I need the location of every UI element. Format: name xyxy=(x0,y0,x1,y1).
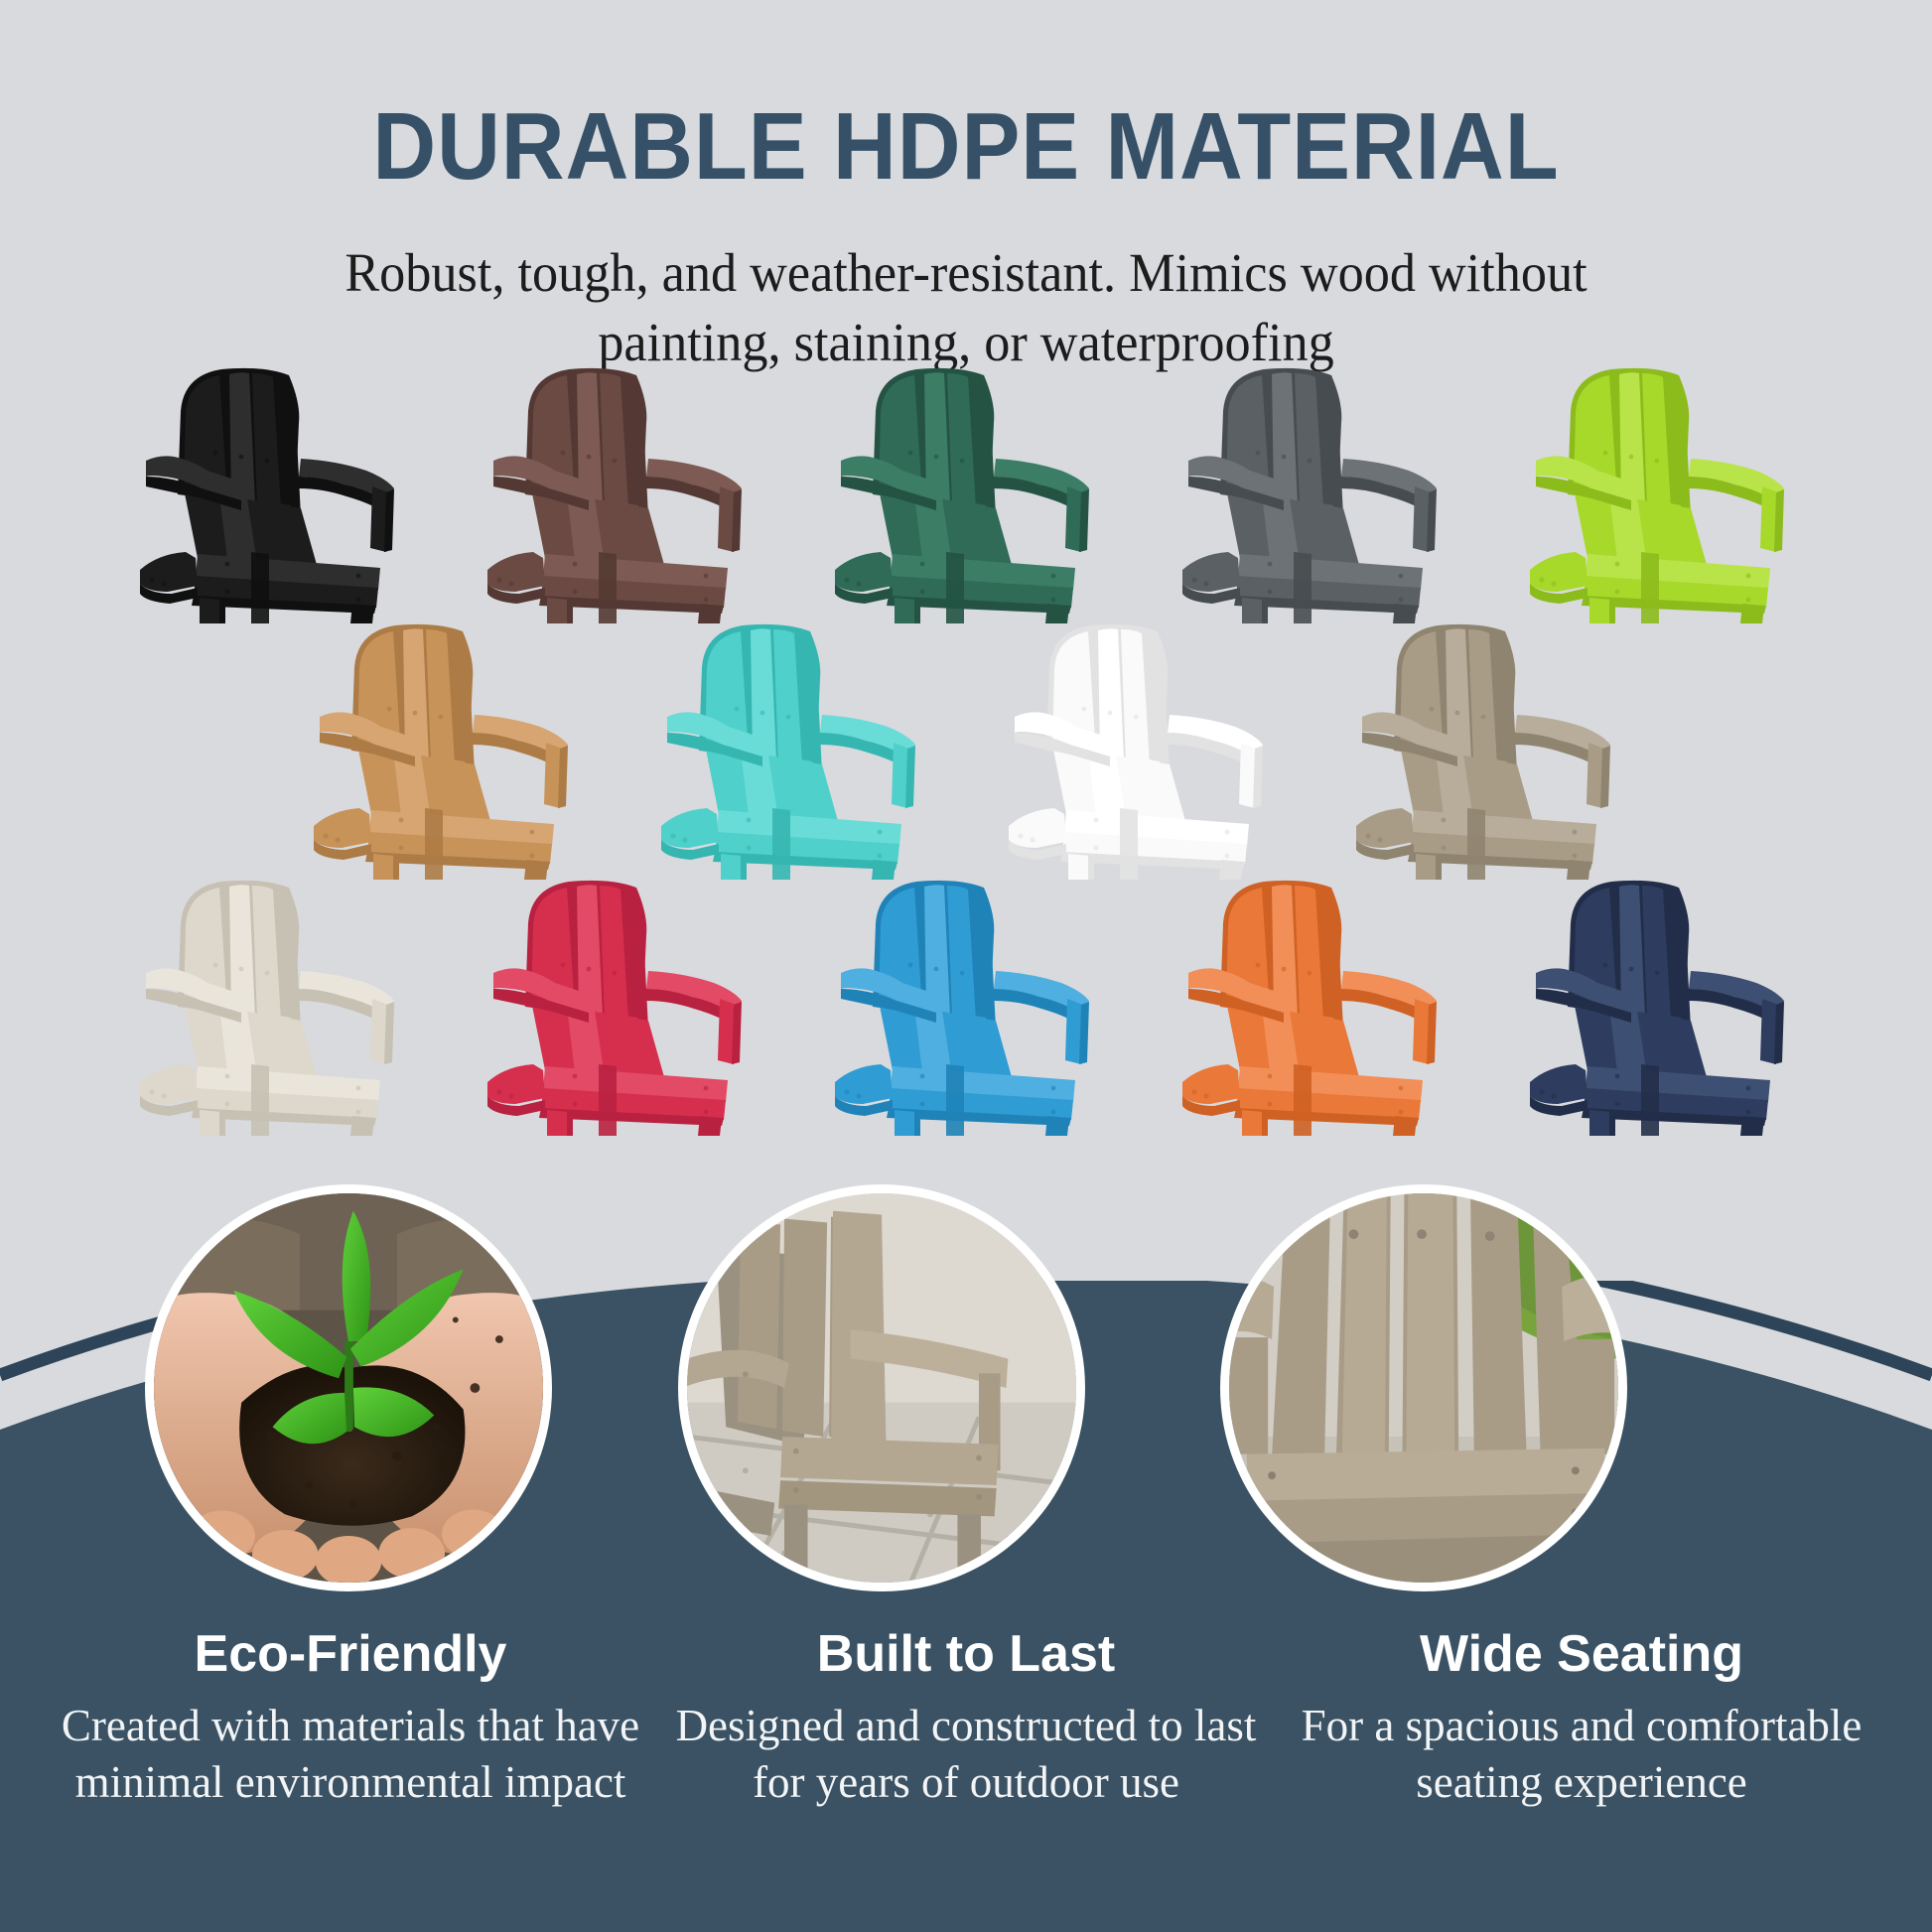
chair-front-support xyxy=(1530,552,1587,604)
chair-right-arm xyxy=(1689,459,1784,552)
chair-front-support xyxy=(314,808,371,860)
chair-front-support xyxy=(487,1064,545,1116)
adirondack-chair-lime xyxy=(1514,359,1808,623)
feature-description: Created with materials that have minimal… xyxy=(53,1698,648,1810)
feature-wide-seating: Wide Seating For a spacious and comforta… xyxy=(1274,1624,1889,1810)
chair-right-arm xyxy=(1515,715,1610,808)
adirondack-chair-teak xyxy=(298,616,592,880)
chair-front-support xyxy=(835,1064,893,1116)
adirondack-chair-ivory xyxy=(124,872,418,1136)
chair-row-2 xyxy=(0,616,1932,880)
page-subtitle: Robust, tough, and weather-resistant. Mi… xyxy=(306,238,1626,378)
adirondack-chair-red xyxy=(472,872,765,1136)
adirondack-chair-green xyxy=(819,359,1113,623)
feature-title: Eco-Friendly xyxy=(53,1624,648,1684)
chair-front-support xyxy=(1182,552,1240,604)
chair-right-arm xyxy=(994,459,1089,552)
chair-swatch-black[interactable] xyxy=(124,359,418,623)
chair-front-support xyxy=(1009,808,1066,860)
chair-swatch-ivory[interactable] xyxy=(124,872,418,1136)
adirondack-chair-weathered-wood xyxy=(1340,616,1634,880)
chair-front-support xyxy=(140,552,198,604)
page-title: DURABLE HDPE MATERIAL xyxy=(77,0,1855,195)
chair-right-arm xyxy=(646,459,742,552)
chair-front-support xyxy=(487,552,545,604)
chair-front-support xyxy=(661,808,719,860)
adirondack-chair-white xyxy=(993,616,1287,880)
chair-front-support xyxy=(1356,808,1414,860)
chair-right-arm xyxy=(473,715,568,808)
bottom-panel xyxy=(0,1281,1932,1932)
chair-swatch-white[interactable] xyxy=(993,616,1287,880)
chair-swatch-lime[interactable] xyxy=(1514,359,1808,623)
feature-title: Built to Last xyxy=(668,1624,1264,1684)
feature-list: Eco-Friendly Created with materials that… xyxy=(0,1624,1932,1810)
chair-right-arm xyxy=(1168,715,1263,808)
adirondack-chair-brown xyxy=(472,359,765,623)
chair-right-arm xyxy=(299,459,394,552)
wave-fill xyxy=(0,1281,1932,1932)
infographic-page: DURABLE HDPE MATERIAL Robust, tough, and… xyxy=(0,0,1932,1932)
adirondack-chair-black xyxy=(124,359,418,623)
chair-swatch-teak[interactable] xyxy=(298,616,592,880)
header: DURABLE HDPE MATERIAL Robust, tough, and… xyxy=(0,0,1932,378)
chair-swatch-red[interactable] xyxy=(472,872,765,1136)
adirondack-chair-turquoise xyxy=(645,616,939,880)
adirondack-chair-navy xyxy=(1514,872,1808,1136)
chair-swatch-brown[interactable] xyxy=(472,359,765,623)
adirondack-chair-blue xyxy=(819,872,1113,1136)
chair-right-arm xyxy=(646,971,742,1064)
chair-right-arm xyxy=(1341,971,1437,1064)
chair-swatch-turquoise[interactable] xyxy=(645,616,939,880)
chair-color-grid xyxy=(0,359,1932,1136)
chair-right-arm xyxy=(994,971,1089,1064)
feature-description: For a spacious and comfortable seating e… xyxy=(1284,1698,1879,1810)
chair-right-arm xyxy=(1689,971,1784,1064)
feature-description: Designed and constructed to last for yea… xyxy=(668,1698,1264,1810)
chair-right-arm xyxy=(820,715,915,808)
chair-swatch-weathered-wood[interactable] xyxy=(1340,616,1634,880)
feature-eco-friendly: Eco-Friendly Created with materials that… xyxy=(43,1624,658,1810)
chair-swatch-orange[interactable] xyxy=(1167,872,1460,1136)
adirondack-chair-orange xyxy=(1167,872,1460,1136)
chair-right-arm xyxy=(1341,459,1437,552)
chair-front-support xyxy=(1182,1064,1240,1116)
chair-swatch-green[interactable] xyxy=(819,359,1113,623)
chair-swatch-navy[interactable] xyxy=(1514,872,1808,1136)
chair-row-3 xyxy=(0,872,1932,1136)
feature-title: Wide Seating xyxy=(1284,1624,1879,1684)
chair-front-support xyxy=(140,1064,198,1116)
chair-swatch-gray[interactable] xyxy=(1167,359,1460,623)
chair-row-1 xyxy=(0,359,1932,623)
adirondack-chair-gray xyxy=(1167,359,1460,623)
chair-front-support xyxy=(835,552,893,604)
wave-divider xyxy=(0,1281,1932,1932)
chair-right-arm xyxy=(299,971,394,1064)
chair-swatch-blue[interactable] xyxy=(819,872,1113,1136)
chair-front-support xyxy=(1530,1064,1587,1116)
feature-built-to-last: Built to Last Designed and constructed t… xyxy=(658,1624,1274,1810)
